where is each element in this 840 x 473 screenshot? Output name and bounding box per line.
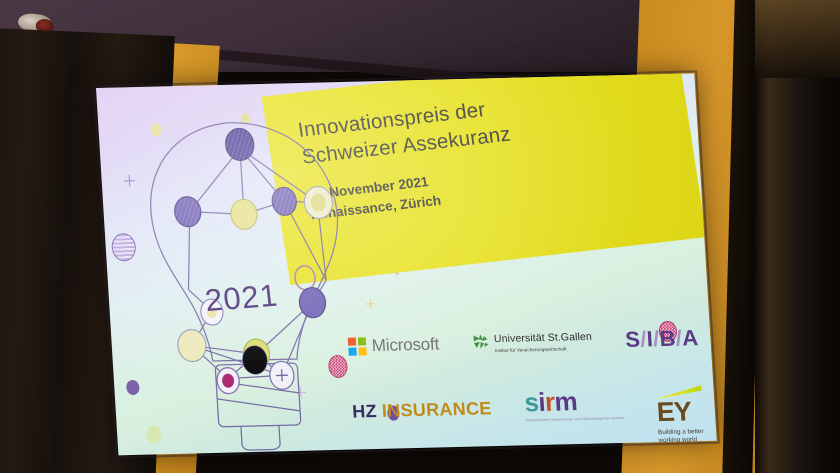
siba-letter-a: A [681, 325, 699, 351]
logo-siba: S / I / B / A [624, 325, 699, 353]
siba-letter-b: B [659, 326, 677, 352]
logo-sirm: sirm Schweizerischer Versicherungs- und … [524, 387, 625, 423]
microsoft-wordmark: Microsoft [371, 335, 439, 357]
slide-canvas: Innovationspreis der Schweizer Assekuran… [96, 73, 717, 455]
microsoft-squares-icon [348, 338, 367, 356]
sirm-subtitle: Schweizerischer Versicherungs- und Risik… [525, 416, 624, 424]
projection-screen: Innovationspreis der Schweizer Assekuran… [96, 73, 717, 455]
ey-wordmark: EY [656, 399, 692, 425]
sirm-wordmark: sirm [524, 388, 578, 415]
hsg-subtitle: Institut für Versicherungswirtschaft [495, 346, 593, 353]
hz-wordmark-part2: INSURANCE [381, 398, 492, 422]
hz-wordmark-part1: HZ [352, 401, 378, 423]
logo-ey: EY Building a better working world [655, 385, 705, 446]
hsg-wordmark: Universität St.Gallen [494, 331, 593, 345]
year-label: 2021 [203, 278, 280, 319]
logo-universitaet-st-gallen: Universität St.Gallen Institut für Versi… [472, 331, 593, 353]
presentation-photo: Innovationspreis der Schweizer Assekuran… [0, 0, 840, 473]
logo-row-primary: Microsoft [347, 325, 699, 360]
hsg-mark-icon [472, 334, 490, 351]
sirm-letter-m: m [554, 386, 578, 416]
siba-letter-s: S [624, 327, 641, 353]
logo-microsoft: Microsoft [348, 335, 440, 357]
logo-hz-insurance: HZ INSURANCE [352, 398, 493, 422]
curtain-right [755, 0, 840, 473]
